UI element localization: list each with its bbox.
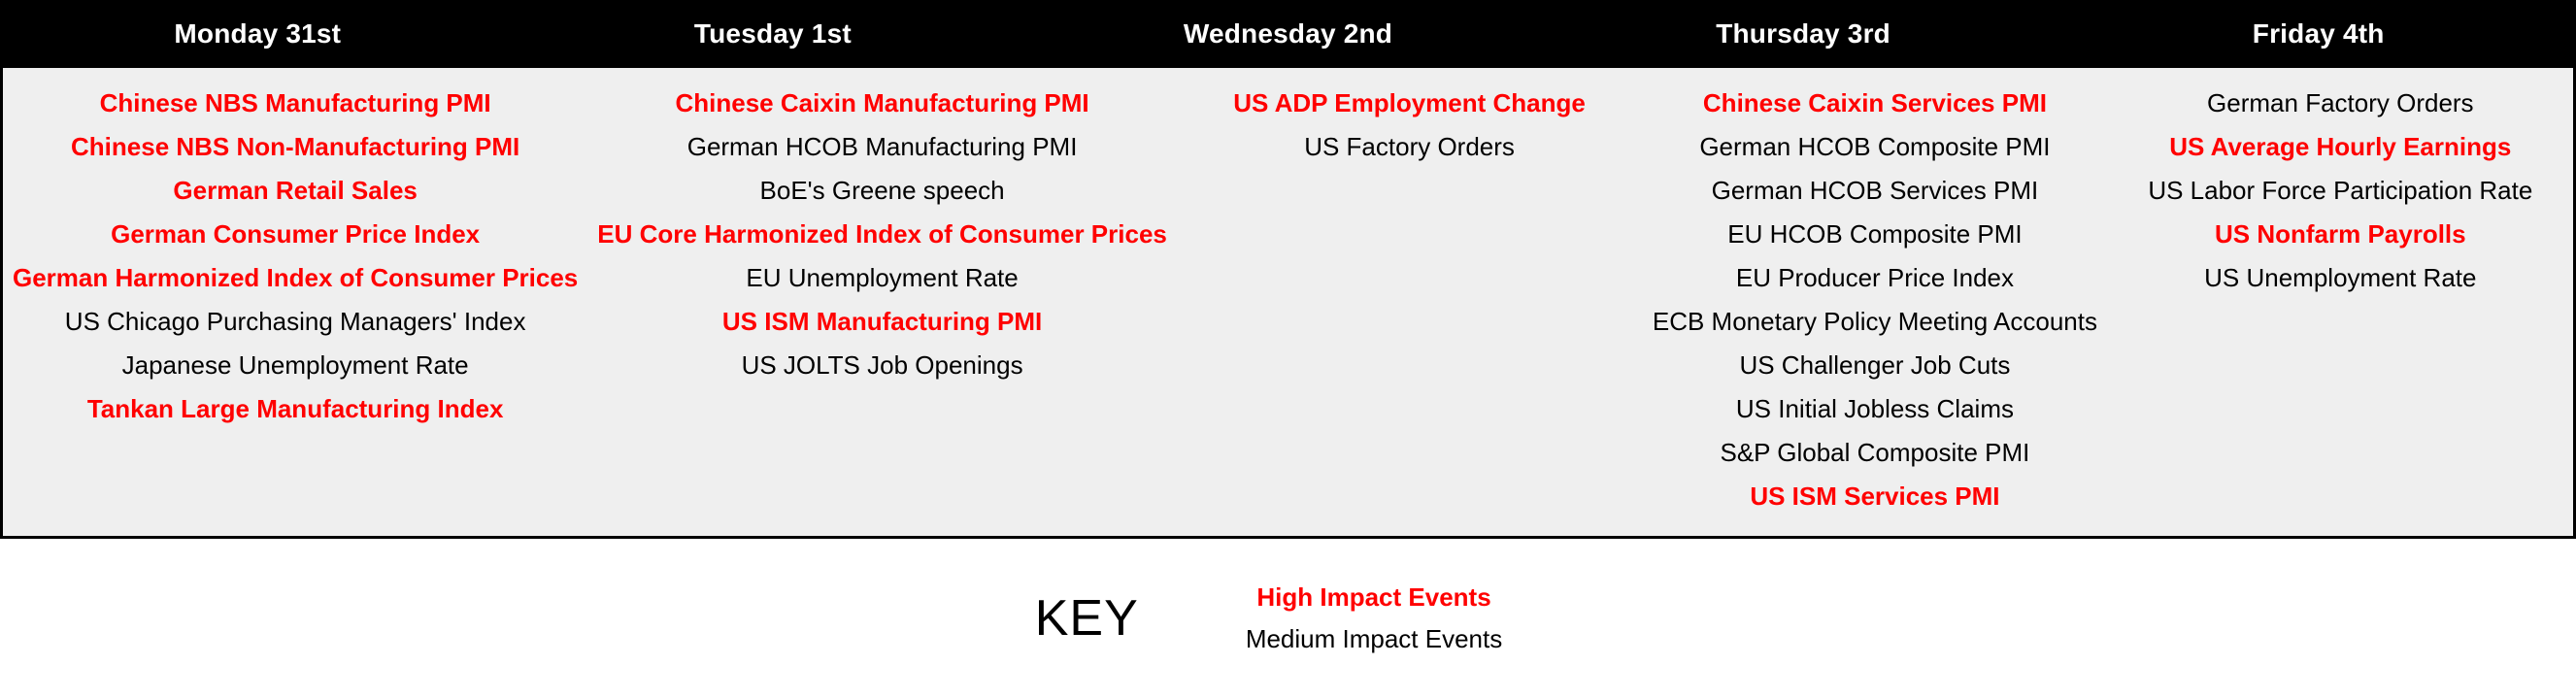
day-header-monday: Monday 31st (0, 0, 516, 68)
legend-title: KEY (1035, 589, 1139, 648)
event-item: ECB Monetary Policy Meeting Accounts (1653, 300, 2097, 344)
event-item: US Average Hourly Earnings (2169, 125, 2511, 169)
event-item: US Factory Orders (1304, 125, 1515, 169)
event-item: US Chicago Purchasing Managers' Index (65, 300, 526, 344)
day-column-tuesday: Chinese Caixin Manufacturing PMI German … (587, 68, 1177, 536)
legend-inner: KEY High Impact Events Medium Impact Eve… (1035, 577, 1503, 660)
event-item: German Factory Orders (2207, 82, 2474, 125)
event-item: S&P Global Composite PMI (1720, 431, 2029, 475)
day-column-friday: German Factory Orders US Average Hourly … (2108, 68, 2573, 536)
event-item: US Challenger Job Cuts (1739, 344, 2010, 387)
event-item: US Unemployment Rate (2204, 256, 2476, 300)
legend: KEY High Impact Events Medium Impact Eve… (0, 539, 2576, 698)
day-column-wednesday: US ADP Employment Change US Factory Orde… (1177, 68, 1642, 536)
day-header-wednesday: Wednesday 2nd (1030, 0, 1546, 68)
event-item: Chinese NBS Manufacturing PMI (100, 82, 491, 125)
calendar-body-row: Chinese NBS Manufacturing PMI Chinese NB… (0, 68, 2576, 539)
event-item: BoE's Greene speech (760, 169, 1005, 213)
event-item: Chinese Caixin Manufacturing PMI (675, 82, 1088, 125)
event-item: US Initial Jobless Claims (1736, 387, 2014, 431)
event-item: EU Producer Price Index (1736, 256, 2014, 300)
event-item: US ISM Services PMI (1750, 475, 1999, 518)
event-item: EU Unemployment Rate (746, 256, 1018, 300)
event-item: EU HCOB Composite PMI (1727, 213, 2022, 256)
event-item: German Consumer Price Index (111, 213, 480, 256)
event-item: German HCOB Services PMI (1712, 169, 2039, 213)
event-item: Tankan Large Manufacturing Index (87, 387, 504, 431)
legend-item-high-impact: High Impact Events (1256, 577, 1490, 618)
event-item: US Nonfarm Payrolls (2215, 213, 2466, 256)
event-item: US Labor Force Participation Rate (2148, 169, 2532, 213)
day-header-thursday: Thursday 3rd (1546, 0, 2061, 68)
event-item: US ADP Employment Change (1233, 82, 1586, 125)
calendar-header-row: Monday 31st Tuesday 1st Wednesday 2nd Th… (0, 0, 2576, 68)
event-item: US JOLTS Job Openings (742, 344, 1023, 387)
event-item: German HCOB Composite PMI (1699, 125, 2050, 169)
event-item: Japanese Unemployment Rate (122, 344, 469, 387)
day-header-tuesday: Tuesday 1st (516, 0, 1031, 68)
legend-item-medium-impact: Medium Impact Events (1246, 618, 1502, 660)
event-item: German Retail Sales (173, 169, 417, 213)
legend-items: High Impact Events Medium Impact Events (1246, 577, 1502, 660)
economic-calendar: Monday 31st Tuesday 1st Wednesday 2nd Th… (0, 0, 2576, 539)
day-column-monday: Chinese NBS Manufacturing PMI Chinese NB… (3, 68, 587, 536)
event-item: German HCOB Manufacturing PMI (687, 125, 1078, 169)
event-item: Chinese Caixin Services PMI (1703, 82, 2047, 125)
event-item: US ISM Manufacturing PMI (722, 300, 1042, 344)
event-item: Chinese NBS Non-Manufacturing PMI (71, 125, 519, 169)
day-header-friday: Friday 4th (2060, 0, 2576, 68)
event-item: German Harmonized Index of Consumer Pric… (13, 256, 578, 300)
day-column-thursday: Chinese Caixin Services PMI German HCOB … (1642, 68, 2107, 536)
event-item: EU Core Harmonized Index of Consumer Pri… (597, 213, 1167, 256)
